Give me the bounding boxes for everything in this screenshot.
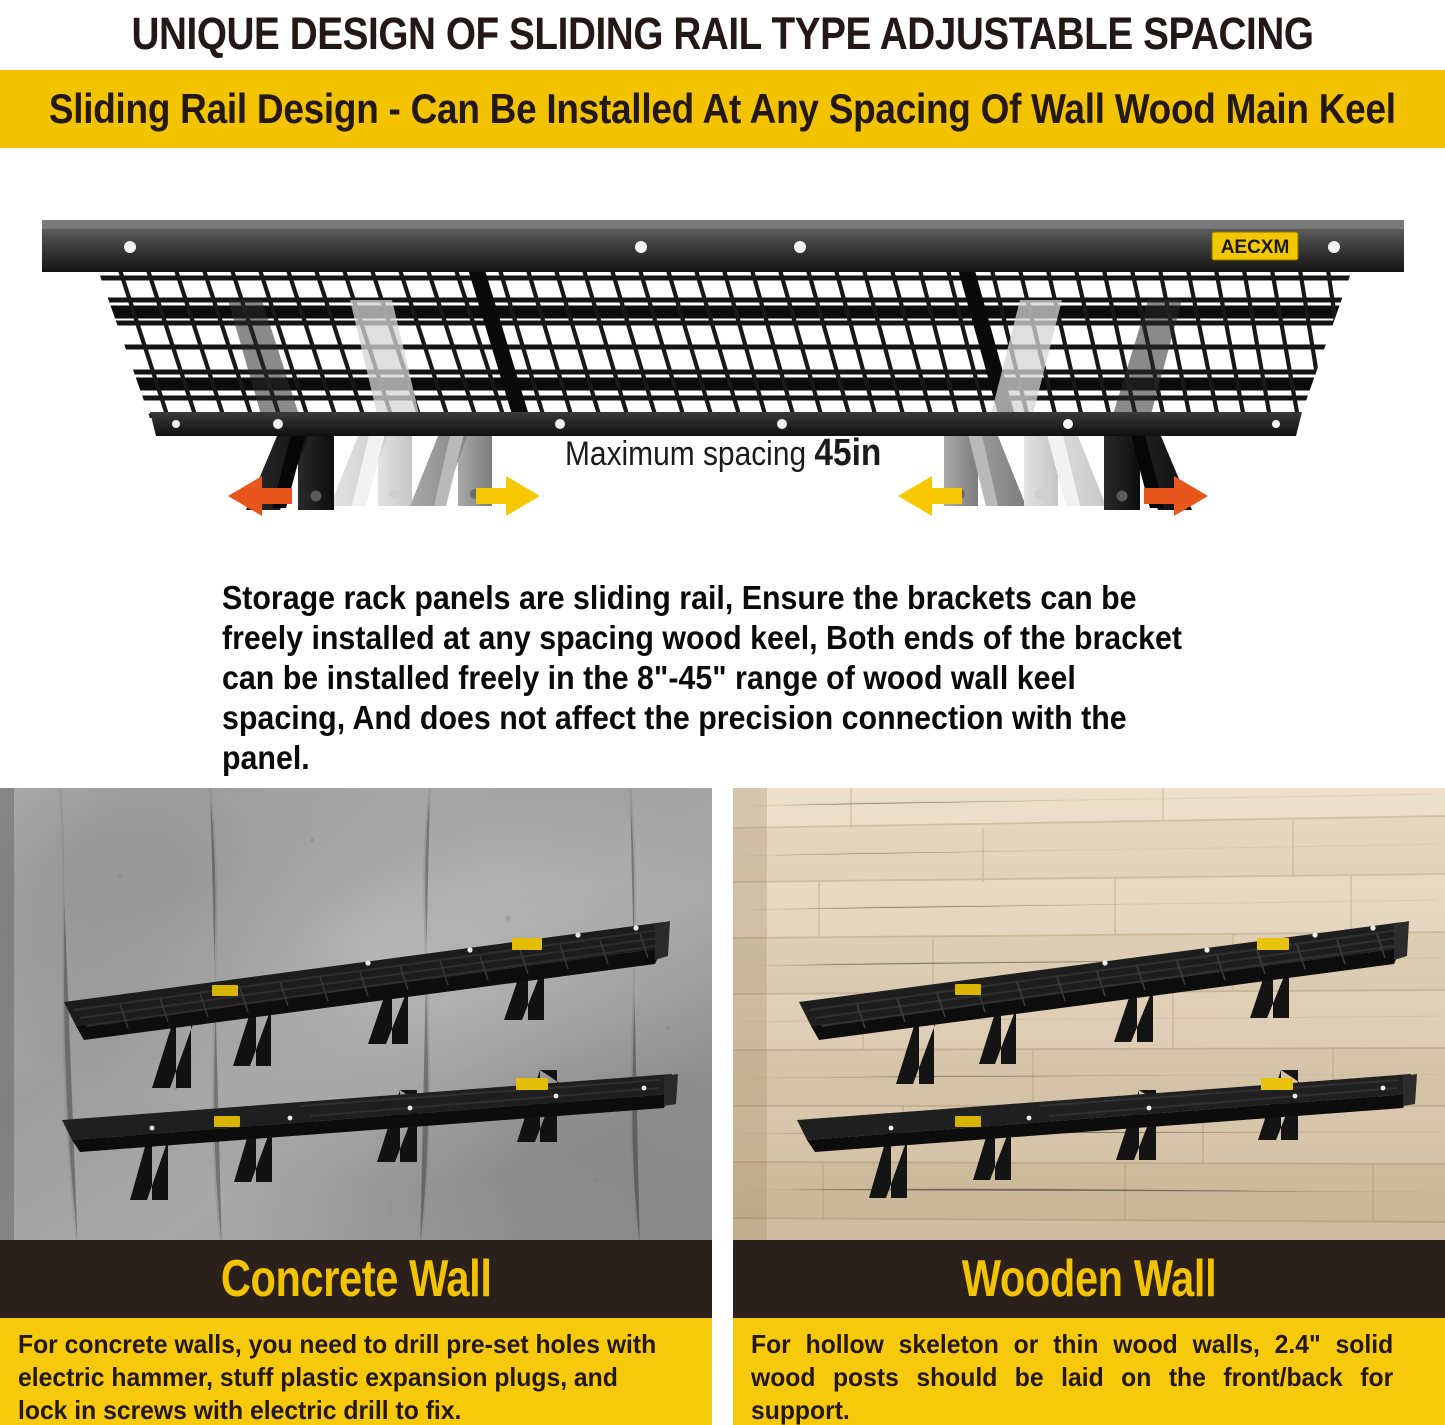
panel-concrete-wall: Concrete Wall For concrete walls, you ne… [0, 788, 712, 1425]
wooden-wall-title-band: Wooden Wall [733, 1240, 1445, 1318]
badge-upper-left-wood [955, 984, 981, 995]
spacing-value: 45in [814, 432, 881, 474]
badge-upper-right [512, 938, 542, 950]
brand-badge-label: AECXM [1221, 237, 1290, 258]
badge-upper-right-wood [1257, 938, 1289, 950]
rack-diagram: AECXM [0, 150, 1445, 550]
back-wall-rail: AECXM [42, 220, 1404, 272]
concrete-wall-photo [0, 788, 712, 1253]
wooden-wall-caption-box: For hollow skeleton or thin wood walls, … [733, 1318, 1445, 1425]
concrete-wall-title-band: Concrete Wall [0, 1240, 712, 1318]
brand-badge: AECXM [1212, 232, 1298, 260]
shelf-deck [96, 268, 1354, 420]
panel-wooden-wall: Wooden Wall For hollow skeleton or thin … [733, 788, 1445, 1425]
page-headline: UNIQUE DESIGN OF SLIDING RAIL TYPE ADJUS… [101, 0, 1344, 68]
product-hero-illustration: AECXM [0, 150, 1445, 550]
badge-upper-left [212, 985, 238, 996]
badge-lower-right [516, 1078, 548, 1090]
subheadline-banner: Sliding Rail Design - Can Be Installed A… [0, 70, 1445, 148]
badge-lower-left [214, 1116, 240, 1127]
description-paragraph: Storage rack panels are sliding rail, En… [222, 578, 1183, 778]
badge-lower-left-wood [955, 1116, 981, 1127]
wooden-wall-caption: For hollow skeleton or thin wood walls, … [751, 1328, 1393, 1425]
concrete-wall-caption-box: For concrete walls, you need to drill pr… [0, 1318, 712, 1425]
wooden-wall-photo [733, 788, 1445, 1253]
subheadline-text: Sliding Rail Design - Can Be Installed A… [49, 85, 1396, 133]
concrete-wall-caption: For concrete walls, you need to drill pr… [18, 1328, 660, 1425]
badge-lower-right-wood [1261, 1078, 1293, 1090]
wooden-wall-title: Wooden Wall [962, 1249, 1216, 1309]
concrete-wall-title: Concrete Wall [221, 1249, 492, 1309]
maximum-spacing-label: Maximum spacing 45in [565, 432, 881, 475]
spacing-prefix: Maximum spacing [565, 435, 814, 473]
